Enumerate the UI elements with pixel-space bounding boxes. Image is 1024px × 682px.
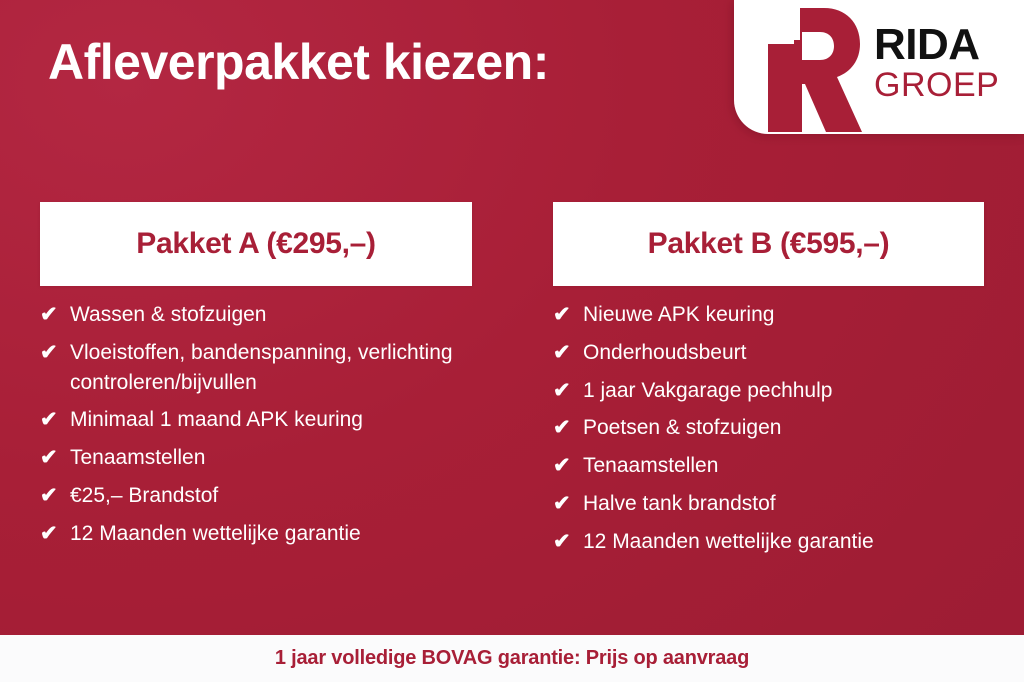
list-item-label: Onderhoudsbeurt: [583, 338, 984, 368]
list-item: ✔ Wassen & stofzuigen: [40, 300, 472, 330]
brand-wordmark: RIDA GROEP: [874, 24, 1024, 103]
list-item-label: Halve tank brandstof: [583, 489, 984, 519]
package-a-title: Pakket A (€295,–): [136, 227, 376, 261]
footer-guarantee-text: 1 jaar volledige BOVAG garantie: Prijs o…: [275, 647, 749, 670]
list-item: ✔ Vloeistoffen, bandenspanning, verlicht…: [40, 338, 472, 398]
list-item-label: Vloeistoffen, bandenspanning, verlichtin…: [70, 338, 472, 398]
brand-logo-panel: RIDA GROEP: [734, 0, 1024, 134]
list-item: ✔ Onderhoudsbeurt: [553, 338, 984, 368]
check-icon: ✔: [553, 451, 583, 481]
afleverpakket-poster: Afleverpakket kiezen: RIDA GROEP Pakket …: [0, 0, 1024, 682]
list-item: ✔ Poetsen & stofzuigen: [553, 413, 984, 443]
list-item-label: 1 jaar Vakgarage pechhulp: [583, 376, 984, 406]
check-icon: ✔: [553, 413, 583, 443]
list-item: ✔ 12 Maanden wettelijke garantie: [553, 527, 984, 557]
list-item-label: 12 Maanden wettelijke garantie: [70, 519, 472, 549]
list-item: ✔ Tenaamstellen: [40, 443, 472, 473]
check-icon: ✔: [553, 338, 583, 368]
list-item-label: Tenaamstellen: [583, 451, 984, 481]
list-item: ✔ 12 Maanden wettelijke garantie: [40, 519, 472, 549]
check-icon: ✔: [40, 405, 70, 435]
package-b-title: Pakket B (€595,–): [648, 227, 890, 261]
list-item-label: Wassen & stofzuigen: [70, 300, 472, 330]
list-item: ✔ 1 jaar Vakgarage pechhulp: [553, 376, 984, 406]
rida-r-monogram-icon: [762, 6, 864, 134]
list-item-label: Nieuwe APK keuring: [583, 300, 984, 330]
check-icon: ✔: [40, 481, 70, 511]
package-a-header: Pakket A (€295,–): [40, 202, 472, 286]
list-item-label: Poetsen & stofzuigen: [583, 413, 984, 443]
check-icon: ✔: [553, 527, 583, 557]
check-icon: ✔: [40, 338, 70, 368]
footer-banner: 1 jaar volledige BOVAG garantie: Prijs o…: [0, 635, 1024, 682]
list-item-label: 12 Maanden wettelijke garantie: [583, 527, 984, 557]
page-title: Afleverpakket kiezen:: [48, 34, 728, 92]
list-item-label: Minimaal 1 maand APK keuring: [70, 405, 472, 435]
list-item: ✔ Nieuwe APK keuring: [553, 300, 984, 330]
check-icon: ✔: [553, 489, 583, 519]
list-item: ✔ Tenaamstellen: [553, 451, 984, 481]
package-b-header: Pakket B (€595,–): [553, 202, 984, 286]
brand-name-primary: RIDA: [874, 24, 1024, 66]
package-card-a: Pakket A (€295,–) ✔ Wassen & stofzuigen …: [40, 202, 472, 557]
check-icon: ✔: [553, 300, 583, 330]
list-item: ✔ €25,– Brandstof: [40, 481, 472, 511]
list-item-label: Tenaamstellen: [70, 443, 472, 473]
list-item: ✔ Halve tank brandstof: [553, 489, 984, 519]
check-icon: ✔: [40, 519, 70, 549]
list-item-label: €25,– Brandstof: [70, 481, 472, 511]
check-icon: ✔: [40, 300, 70, 330]
package-card-b: Pakket B (€595,–) ✔ Nieuwe APK keuring ✔…: [553, 202, 984, 565]
package-a-feature-list: ✔ Wassen & stofzuigen ✔ Vloeistoffen, ba…: [40, 300, 472, 549]
list-item: ✔ Minimaal 1 maand APK keuring: [40, 405, 472, 435]
check-icon: ✔: [553, 376, 583, 406]
brand-name-secondary: GROEP: [874, 68, 1024, 104]
package-b-feature-list: ✔ Nieuwe APK keuring ✔ Onderhoudsbeurt ✔…: [553, 300, 984, 557]
check-icon: ✔: [40, 443, 70, 473]
